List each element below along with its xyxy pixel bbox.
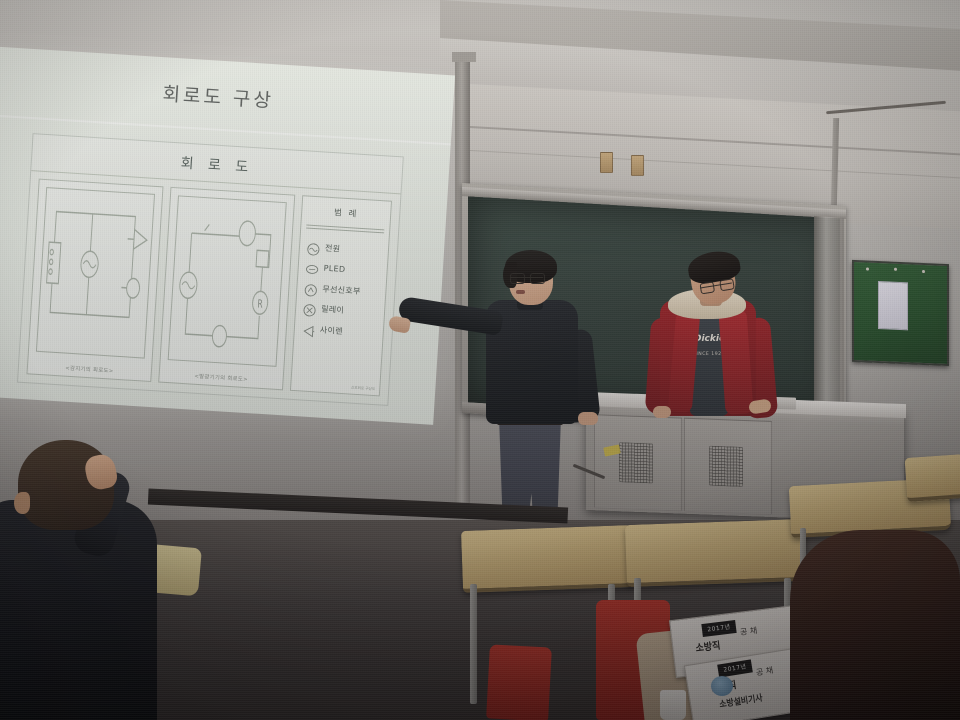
siren-icon — [301, 322, 315, 336]
legend-item-siren: 사이렌 — [301, 318, 378, 343]
podium-door-left — [594, 414, 682, 511]
legend-label: 무선신호부 — [322, 283, 361, 296]
speaker-grille-icon — [619, 442, 653, 483]
emitter-circuit-diagram: R <발광기기의 회로도> — [158, 187, 295, 390]
book-subtitle: 공 채 — [739, 625, 757, 638]
pin-icon — [866, 267, 869, 270]
emitter-circuit-frame: R — [168, 195, 287, 367]
student-left-ear — [14, 492, 30, 514]
bottle-cap — [711, 676, 733, 696]
pin-icon — [922, 270, 925, 273]
presenter2-hand-left — [653, 406, 671, 418]
emitter-circuit-caption: <발광기기의 회로도> — [160, 370, 283, 386]
power-source-icon — [307, 240, 321, 254]
desk-leg — [470, 584, 477, 704]
desk-top — [461, 525, 635, 593]
legend-label: 릴레이 — [321, 304, 345, 316]
pillar-cap — [452, 52, 476, 62]
legend-credit: 신호회로 구상도 — [351, 386, 376, 393]
student-right-hair — [790, 530, 960, 720]
slide-title: 회로도 구상 — [0, 68, 454, 124]
presenter1-hand-right — [578, 412, 598, 425]
detector-circuit-caption: <감지기의 회로도> — [28, 361, 151, 377]
pled-icon — [305, 261, 319, 275]
legend-label: 전원 — [325, 242, 341, 254]
speaker-grille-icon — [709, 446, 743, 487]
diagram-row: <감지기의 회로도> — [26, 179, 392, 397]
pin-icon — [894, 268, 897, 271]
wall-plaque-icon — [600, 152, 613, 173]
legend-title: 범 례 — [302, 204, 391, 222]
pinned-notice — [878, 281, 908, 330]
classroom-chair — [486, 644, 552, 720]
classroom-photo: 회로도 구상 회 로 도 — [0, 0, 960, 720]
detector-circuit-frame — [36, 187, 155, 359]
detector-circuit-diagram: <감지기의 회로도> — [26, 179, 163, 382]
slide-content-panel: 회 로 도 — [17, 133, 404, 406]
legend-box: 범 례 전원 — [290, 195, 392, 396]
podium-door-right — [684, 418, 772, 515]
emitter-circuit-svg: R — [169, 196, 286, 365]
paper-cup — [660, 690, 686, 720]
wireless-signal-icon — [304, 281, 318, 295]
projected-slide: 회로도 구상 회 로 도 — [0, 46, 455, 425]
desk-top — [625, 519, 807, 587]
svg-text:R: R — [257, 298, 263, 311]
glasses-icon — [510, 273, 543, 282]
presenter1-mouth — [516, 290, 525, 294]
relay-icon — [303, 302, 317, 316]
detector-circuit-svg — [37, 188, 154, 357]
legend-list: 전원 PLED — [301, 237, 383, 344]
wall-plaque-icon — [631, 155, 644, 176]
desk-top — [905, 454, 960, 502]
legend-label: PLED — [323, 264, 345, 274]
bulletin-board — [852, 260, 949, 366]
slide-subtitle: 회 로 도 — [32, 143, 403, 186]
chalkboard-side-panel — [814, 216, 844, 426]
legend-label: 사이렌 — [319, 324, 343, 336]
book-title: 소방직 — [695, 637, 721, 655]
